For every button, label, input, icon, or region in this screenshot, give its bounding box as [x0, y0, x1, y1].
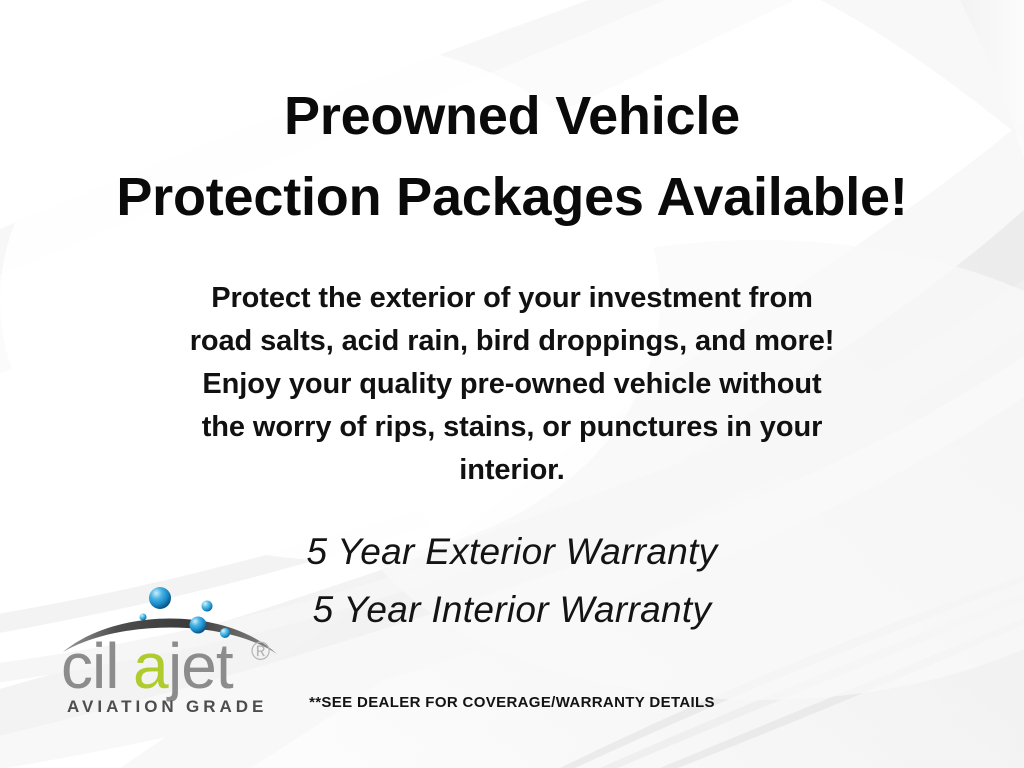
logo-tagline-left: AVIATION [67, 697, 178, 716]
cilajet-logo: cil a jet ® AVIATION GRADE [55, 580, 295, 720]
bubble-small-icon [202, 601, 213, 612]
logo-wordmark-part1: cil [61, 630, 118, 702]
warranty-exterior-text: 5 Year Exterior Warranty [0, 531, 1024, 573]
slide-canvas: Preowned Vehicle Protection Packages Ava… [0, 0, 1024, 768]
registered-mark: ® [251, 636, 270, 666]
body-copy: Protect the exterior of your investment … [0, 277, 1024, 492]
logo-tagline-right: GRADE [186, 697, 267, 716]
logo-wordmark-accent: a [133, 630, 169, 702]
bubble-tiny-icon [140, 614, 147, 621]
logo-wordmark-part2: jet [166, 630, 234, 702]
page-title: Preowned Vehicle Protection Packages Ava… [0, 76, 1024, 238]
bubble-large-icon [149, 587, 171, 609]
